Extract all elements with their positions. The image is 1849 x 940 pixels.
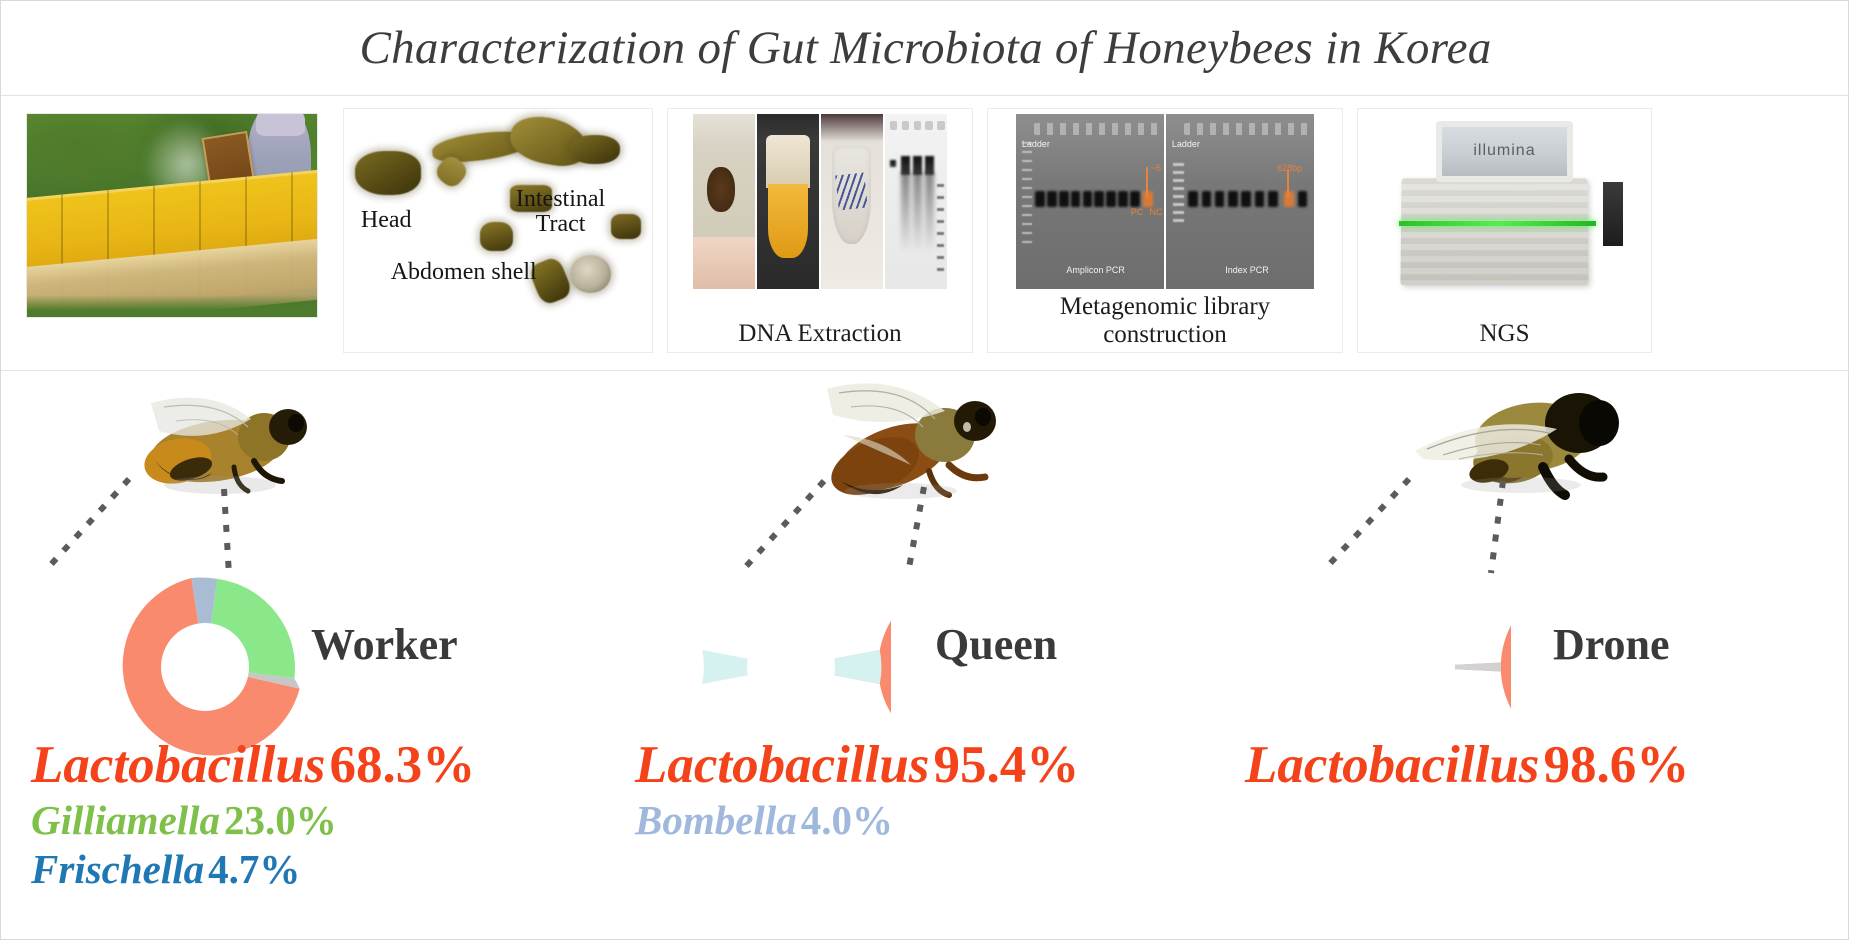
label-abdomen-shell: Abdomen shell (391, 260, 537, 285)
workflow-panel-metagenomic-library: Ladder ~5 PC NC Amplicon PCR (987, 108, 1343, 353)
legend-genus: Lactobacillus (1245, 736, 1539, 794)
caste-label-worker: Worker (311, 619, 458, 670)
label-intestinal-tract-line1: Intestinal (516, 187, 605, 212)
legend-genus: Lactobacillus (31, 736, 325, 794)
bee-head-part (355, 151, 421, 195)
legend-item: Lactobacillus 95.4% (635, 739, 1079, 792)
legend-percent: 98.6% (1543, 736, 1689, 794)
labeled-tube-photo (821, 114, 883, 289)
metagenomic-library-caption: Metagenomic library construction (994, 289, 1336, 349)
gel-label-size-right: 628bp (1277, 163, 1302, 173)
sequencer-body (1401, 178, 1589, 285)
legend-genus: Gilliamella (31, 797, 220, 843)
caste-label-queen: Queen (935, 619, 1057, 670)
caste-column-queen: Queen Lactobacillus 95.4% Bombella 4.0% (617, 371, 1233, 940)
workflow-panel-dissection: Head Intestinal Tract Abdomen shell (343, 108, 653, 353)
legend-genus: Frischella (31, 846, 204, 892)
legend-percent: 4.0% (801, 797, 893, 843)
dna-extraction-caption: DNA Extraction (674, 316, 966, 348)
grass (27, 295, 317, 317)
worker-legend: Lactobacillus 68.3% Gilliamella 23.0% Fr… (31, 739, 475, 892)
beekeeper-hat (256, 113, 305, 136)
workflow-strip: Head Intestinal Tract Abdomen shell (1, 96, 1849, 371)
gel-label-ladder-left: Ladder (1022, 139, 1050, 149)
sequencer-screen: illumina (1436, 121, 1574, 182)
caste-column-worker: Worker Lactobacillus 68.3% Gilliamella 2… (1, 371, 617, 940)
index-pcr-gel: Ladder 628bp Index PCR (1166, 114, 1314, 289)
legend-item: Lactobacillus 98.6% (1245, 739, 1689, 792)
gel-label-amplicon-pcr: Amplicon PCR (1066, 265, 1125, 275)
gel-label-size-left: ~5 (1151, 163, 1161, 173)
label-intestinal-tract-line2: Tract (516, 212, 605, 237)
metagenomic-caption-line2: construction (994, 321, 1336, 349)
queen-legend: Lactobacillus 95.4% Bombella 4.0% (635, 739, 1079, 843)
legend-genus: Lactobacillus (635, 736, 929, 794)
illumina-brand-text: illumina (1473, 142, 1535, 160)
gel-label-ladder-right: Ladder (1172, 139, 1200, 149)
sample-tube-photo (693, 114, 755, 289)
gel-label-index-pcr: Index PCR (1225, 265, 1269, 275)
ngs-caption: NGS (1364, 316, 1645, 348)
library-gel-images: Ladder ~5 PC NC Amplicon PCR (1016, 114, 1314, 289)
workflow-panel-ngs: illumina NGS (1357, 108, 1652, 353)
legend-item: Frischella 4.7% (31, 849, 475, 890)
legend-item: Bombella 4.0% (635, 800, 1079, 841)
amplicon-pcr-gel: Ladder ~5 PC NC Amplicon PCR (1016, 114, 1164, 289)
label-head: Head (361, 208, 412, 233)
sequencer-status-led (1399, 221, 1596, 226)
dissected-bee-image: Head Intestinal Tract Abdomen shell (349, 114, 647, 322)
caste-results-section: Worker Lactobacillus 68.3% Gilliamella 2… (1, 371, 1849, 940)
workflow-panel-apiary (15, 108, 329, 353)
page-title: Characterization of Gut Microbiota of Ho… (359, 21, 1491, 75)
graphical-abstract: Characterization of Gut Microbiota of Ho… (0, 0, 1849, 940)
legend-percent: 4.7% (208, 846, 300, 892)
title-band: Characterization of Gut Microbiota of Ho… (1, 1, 1849, 96)
metagenomic-caption-line1: Metagenomic library (994, 293, 1336, 321)
legend-item: Lactobacillus 68.3% (31, 739, 475, 792)
abdomen-disc (570, 255, 612, 292)
dna-gel-photo (885, 114, 947, 289)
apiary-photo (26, 113, 318, 318)
abdomen-segment-3 (611, 214, 641, 239)
label-intestinal-tract: Intestinal Tract (516, 187, 605, 237)
legend-percent: 68.3% (329, 736, 475, 794)
legend-percent: 95.4% (933, 736, 1079, 794)
gut-part-3 (570, 135, 621, 164)
workflow-panel-dna-extraction: DNA Extraction (667, 108, 973, 353)
lysate-tube-photo (757, 114, 819, 289)
caste-label-drone: Drone (1553, 619, 1670, 670)
gel-label-nc: NC (1150, 207, 1163, 217)
ngs-sequencer-photo: illumina (1382, 114, 1628, 292)
legend-percent: 23.0% (224, 797, 337, 843)
gel-label-pc: PC (1131, 207, 1144, 217)
dna-extraction-images (693, 114, 947, 289)
legend-item: Gilliamella 23.0% (31, 800, 475, 841)
legend-genus: Bombella (635, 797, 797, 843)
drone-legend: Lactobacillus 98.6% (1245, 739, 1689, 794)
abdomen-segment-2 (480, 222, 513, 251)
caste-column-drone: Drone Lactobacillus 98.6% (1233, 371, 1849, 940)
sequencer-side-module (1603, 182, 1623, 246)
